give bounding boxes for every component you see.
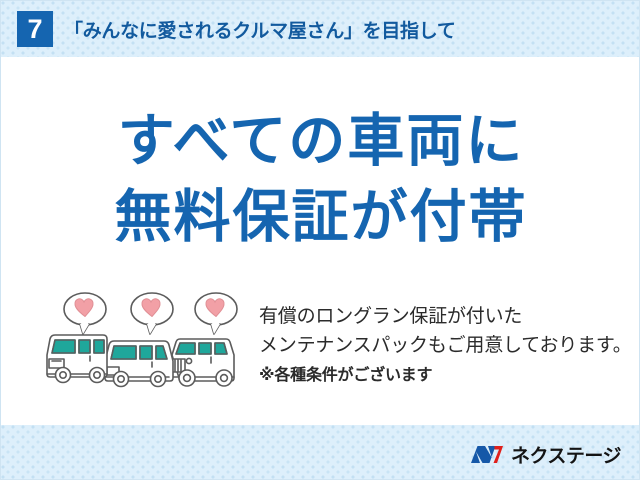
header-title: 「みんなに愛されるクルマ屋さん」を目指して: [64, 16, 456, 43]
content-row: 有償のロングラン保証が付いた メンテナンスパックもご用意しております。 ※各種条…: [1, 289, 640, 409]
car-minivan: [105, 341, 173, 387]
car-suv: [172, 339, 234, 386]
header-number-badge: 7: [17, 11, 53, 47]
headline: すべての車両に 無料保証が付帯: [1, 104, 640, 256]
brand-name: ネクステージ: [511, 441, 621, 468]
brand-logo: ネクステージ: [470, 442, 621, 466]
body-copy-line-1: 有償のロングラン保証が付いた: [259, 303, 639, 332]
nextage-n-mark-icon: [470, 444, 504, 465]
header: 7 「みんなに愛されるクルマ屋さん」を目指して: [1, 1, 640, 57]
headline-line-2: 無料保証が付帯: [1, 180, 640, 256]
car-kei-van: [47, 335, 107, 383]
body-copy-line-2: メンテナンスパックもご用意しております。: [259, 332, 639, 361]
body-copy-note: ※各種条件がございます: [259, 363, 639, 389]
cars-illustration: [39, 289, 254, 399]
heart-bubble-right: [195, 293, 237, 334]
headline-line-1: すべての車両に: [1, 104, 640, 180]
heart-bubble-left: [64, 293, 106, 334]
warranty-banner: 7 「みんなに愛されるクルマ屋さん」を目指して すべての車両に 無料保証が付帯: [0, 0, 640, 480]
heart-bubble-center: [131, 293, 173, 334]
body-copy: 有償のロングラン保証が付いた メンテナンスパックもご用意しております。 ※各種条…: [259, 303, 639, 388]
